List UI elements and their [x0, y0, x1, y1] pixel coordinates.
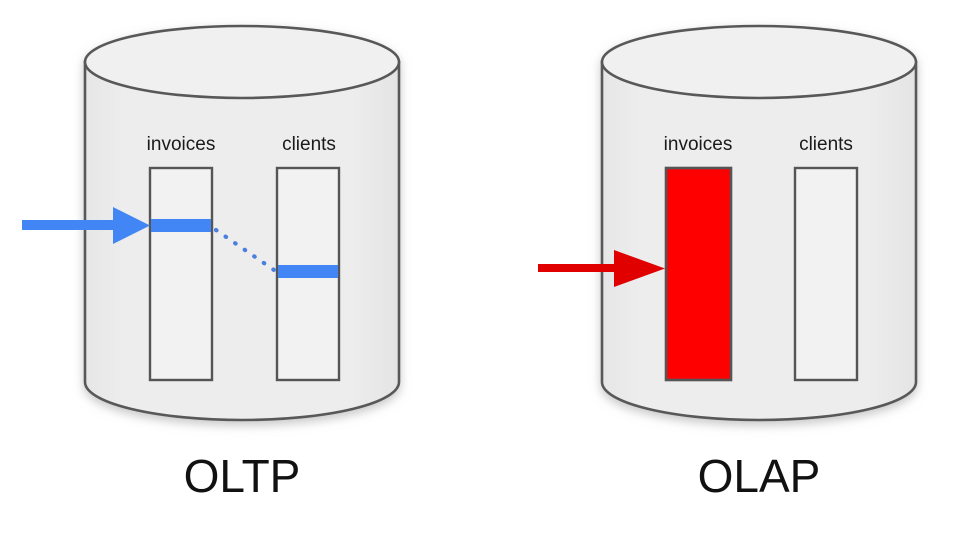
olap-invoices-table [666, 168, 731, 380]
oltp-clients-label: clients [282, 134, 336, 155]
olap-group: invoices clients OLAP [538, 26, 916, 502]
olap-clients-label: clients [799, 134, 853, 155]
oltp-olap-comparison-diagram: invoices clients OLTP invoices clients O… [0, 0, 968, 548]
oltp-group: invoices clients OLTP [22, 26, 399, 502]
cylinder-top [602, 26, 916, 98]
oltp-invoices-table [150, 168, 212, 380]
oltp-clients-highlight-row [278, 265, 338, 278]
olap-cylinder [602, 26, 916, 420]
cylinder-body [85, 62, 399, 420]
olap-clients-table [795, 168, 857, 380]
oltp-invoices-label: invoices [147, 134, 216, 155]
cylinder-body [602, 62, 916, 420]
diagram-canvas: invoices clients OLTP invoices clients O… [0, 0, 968, 548]
oltp-caption: OLTP [184, 450, 301, 502]
cylinder-top [85, 26, 399, 98]
olap-caption: OLAP [698, 450, 821, 502]
olap-invoices-label: invoices [664, 134, 733, 155]
oltp-invoices-highlight-row [151, 219, 211, 232]
